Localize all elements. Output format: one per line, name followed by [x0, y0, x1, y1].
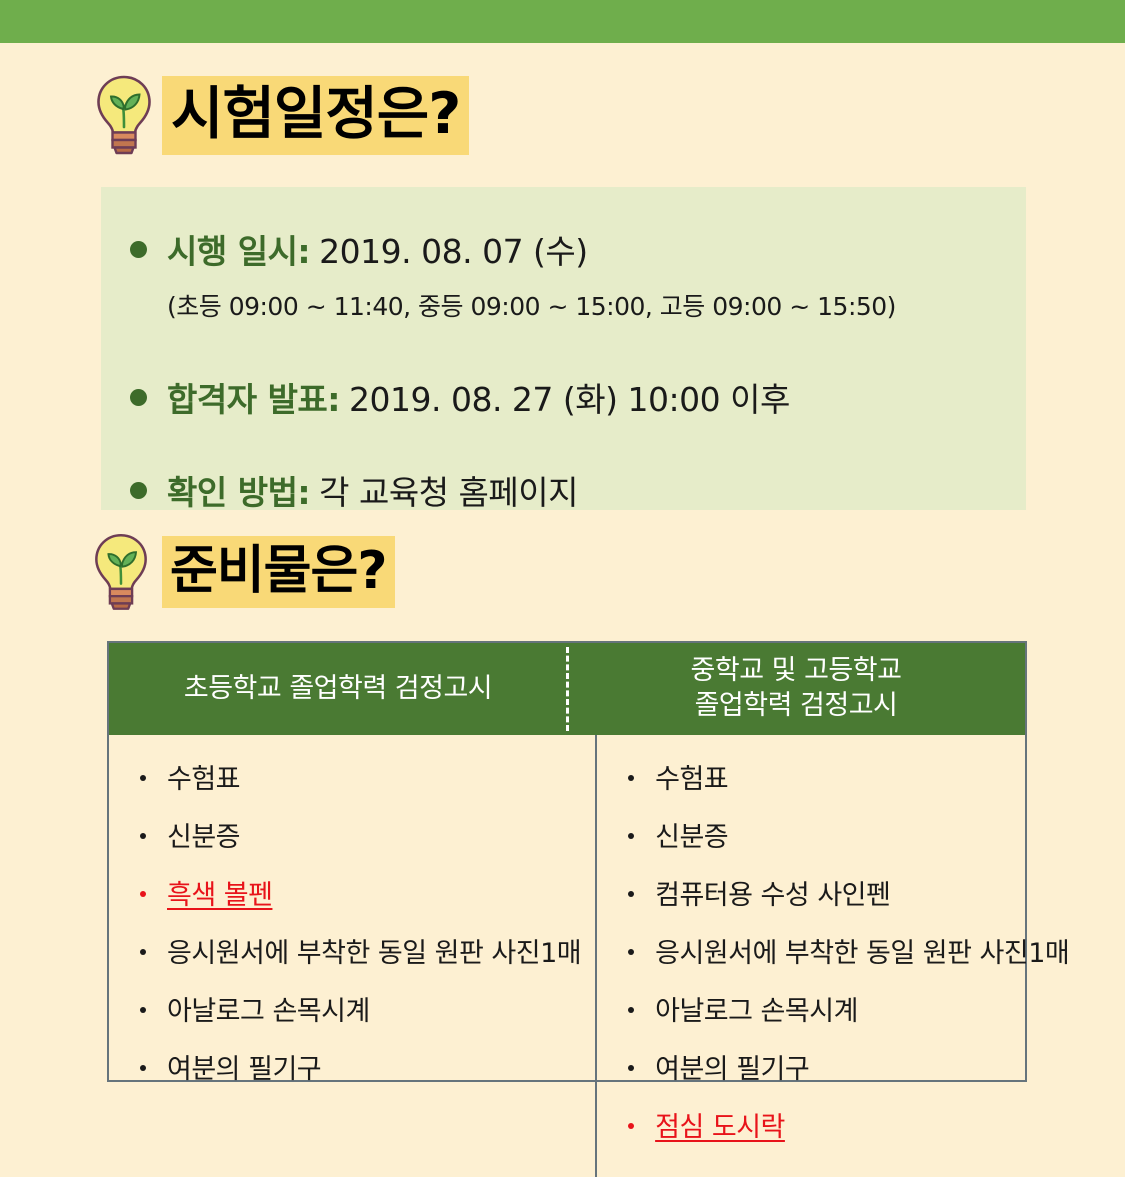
- list-item: 수험표: [123, 757, 581, 796]
- list-item-label: 신분증: [167, 815, 240, 854]
- header-dashed-divider: [566, 647, 569, 731]
- supplies-table: 초등학교 졸업학력 검정고시 중학교 및 고등학교 졸업학력 검정고시 수험표: [107, 641, 1027, 1082]
- list-item: 여분의 필기구: [123, 1047, 581, 1086]
- schedule-value: 2019. 08. 07 (수): [319, 225, 588, 273]
- bullet-dot-icon: [140, 833, 146, 839]
- bullet-dot-icon: [140, 891, 146, 897]
- list-item-label: 응시원서에 부착한 동일 원판 사진1매: [655, 931, 1069, 970]
- list-item-highlighted: 흑색 볼펜: [123, 873, 581, 912]
- schedule-row-exam-date: 시행 일시: 2019. 08. 07 (수): [101, 225, 1026, 273]
- list-item: 아날로그 손목시계: [611, 989, 1069, 1028]
- schedule-label: 시행 일시:: [167, 225, 310, 273]
- schedule-heading-text: 시험일정은?: [162, 76, 469, 155]
- table-header-elementary: 초등학교 졸업학력 검정고시: [109, 643, 567, 735]
- supplies-cell-elementary: 수험표 신분증 흑색 볼펜 응시원서에 부착한 동일 원판 사진1매: [109, 735, 597, 1177]
- list-item-label: 아날로그 손목시계: [167, 989, 370, 1028]
- list-item: 신분증: [123, 815, 581, 854]
- list-item-label: 응시원서에 부착한 동일 원판 사진1매: [167, 931, 581, 970]
- table-header-middle-high-line2: 졸업학력 검정고시: [695, 690, 898, 721]
- bullet-dot-icon: [130, 241, 147, 258]
- bullet-dot-icon: [140, 775, 146, 781]
- list-item: 응시원서에 부착한 동일 원판 사진1매: [123, 931, 581, 970]
- bullet-dot-icon: [628, 1123, 634, 1129]
- lightbulb-sprout-icon: [92, 532, 150, 612]
- page-canvas: 시험일정은? 시행 일시: 2019. 08. 07 (수) (초등 09:00…: [0, 43, 1125, 1125]
- schedule-row-check-method: 확인 방법: 각 교육청 홈페이지: [101, 466, 1026, 514]
- schedule-value: 각 교육청 홈페이지: [319, 466, 578, 514]
- supplies-table-header-row: 초등학교 졸업학력 검정고시 중학교 및 고등학교 졸업학력 검정고시: [109, 643, 1025, 735]
- list-item-label: 컴퓨터용 수성 사인펜: [655, 873, 890, 912]
- list-item-label: 여분의 필기구: [167, 1047, 321, 1086]
- bullet-dot-icon: [628, 1065, 634, 1071]
- bullet-dot-icon: [130, 389, 147, 406]
- list-item: 여분의 필기구: [611, 1047, 1069, 1086]
- list-item-label: 신분증: [655, 815, 728, 854]
- supplies-list-elementary: 수험표 신분증 흑색 볼펜 응시원서에 부착한 동일 원판 사진1매: [123, 757, 581, 1086]
- supplies-heading-text: 준비물은?: [162, 536, 395, 608]
- supplies-table-body: 수험표 신분증 흑색 볼펜 응시원서에 부착한 동일 원판 사진1매: [109, 735, 1025, 1177]
- list-item-label: 수험표: [167, 757, 240, 796]
- schedule-label: 합격자 발표:: [167, 373, 340, 421]
- bullet-dot-icon: [140, 949, 146, 955]
- bullet-dot-icon: [628, 775, 634, 781]
- list-item: 컴퓨터용 수성 사인펜: [611, 873, 1069, 912]
- bullet-dot-icon: [628, 949, 634, 955]
- list-item: 수험표: [611, 757, 1069, 796]
- supplies-heading: 준비물은?: [92, 532, 395, 612]
- lightbulb-sprout-icon: [94, 74, 154, 156]
- list-item: 응시원서에 부착한 동일 원판 사진1매: [611, 931, 1069, 970]
- bullet-dot-icon: [628, 1007, 634, 1013]
- bullet-dot-icon: [628, 891, 634, 897]
- schedule-heading: 시험일정은?: [94, 74, 469, 156]
- schedule-subnote-times: (초등 09:00 ~ 11:40, 중등 09:00 ~ 15:00, 고등 …: [101, 287, 1026, 323]
- schedule-row-result-announcement: 합격자 발표: 2019. 08. 27 (화) 10:00 이후: [101, 373, 1026, 421]
- list-item: 아날로그 손목시계: [123, 989, 581, 1028]
- list-item-label: 아날로그 손목시계: [655, 989, 858, 1028]
- bullet-dot-icon: [628, 833, 634, 839]
- table-header-middle-high-lines: 중학교 및 고등학교 졸업학력 검정고시: [691, 654, 902, 723]
- bullet-dot-icon: [130, 482, 147, 499]
- list-item: 신분증: [611, 815, 1069, 854]
- schedule-value: 2019. 08. 27 (화) 10:00 이후: [349, 373, 790, 421]
- supplies-cell-middle-high: 수험표 신분증 컴퓨터용 수성 사인펜 응시원서에 부착한 동일 원판 사진1매: [597, 735, 1083, 1177]
- schedule-info-box: 시행 일시: 2019. 08. 07 (수) (초등 09:00 ~ 11:4…: [101, 187, 1026, 510]
- schedule-label: 확인 방법:: [167, 466, 310, 514]
- list-item-label: 여분의 필기구: [655, 1047, 809, 1086]
- table-header-middle-high-line1: 중학교 및 고등학교: [691, 655, 902, 686]
- table-header-elementary-line1: 초등학교 졸업학력 검정고시: [184, 672, 492, 707]
- supplies-list-middle-high: 수험표 신분증 컴퓨터용 수성 사인펜 응시원서에 부착한 동일 원판 사진1매: [611, 757, 1069, 1144]
- top-green-band: [0, 0, 1125, 43]
- bullet-dot-icon: [140, 1007, 146, 1013]
- bullet-dot-icon: [140, 1065, 146, 1071]
- list-item-label: 수험표: [655, 757, 728, 796]
- table-header-middle-high: 중학교 및 고등학교 졸업학력 검정고시: [567, 643, 1025, 735]
- list-item-label: 흑색 볼펜: [167, 873, 272, 912]
